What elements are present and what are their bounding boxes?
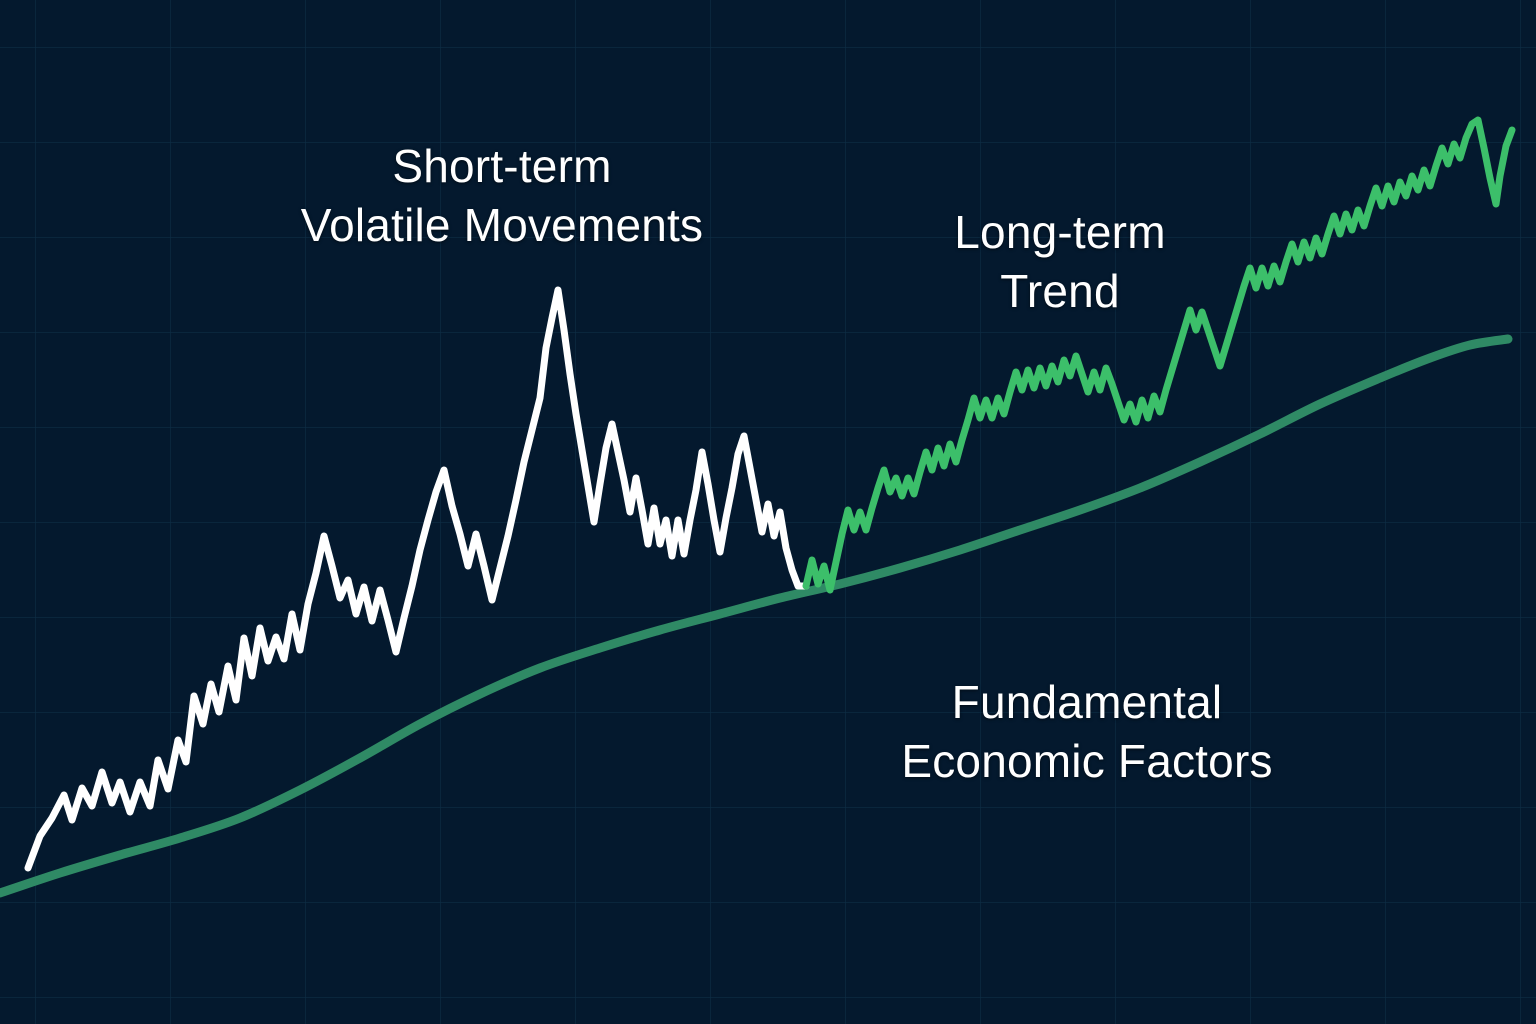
line-chart-svg (0, 0, 1536, 1024)
annotation-long-term-trend: Long-term Trend (905, 203, 1215, 321)
annotation-short-term-volatile-movements: Short-term Volatile Movements (252, 137, 752, 255)
annotation-fundamental-economic-factors: Fundamental Economic Factors (848, 673, 1326, 791)
chart-canvas: Short-term Volatile Movements Long-term … (0, 0, 1536, 1024)
